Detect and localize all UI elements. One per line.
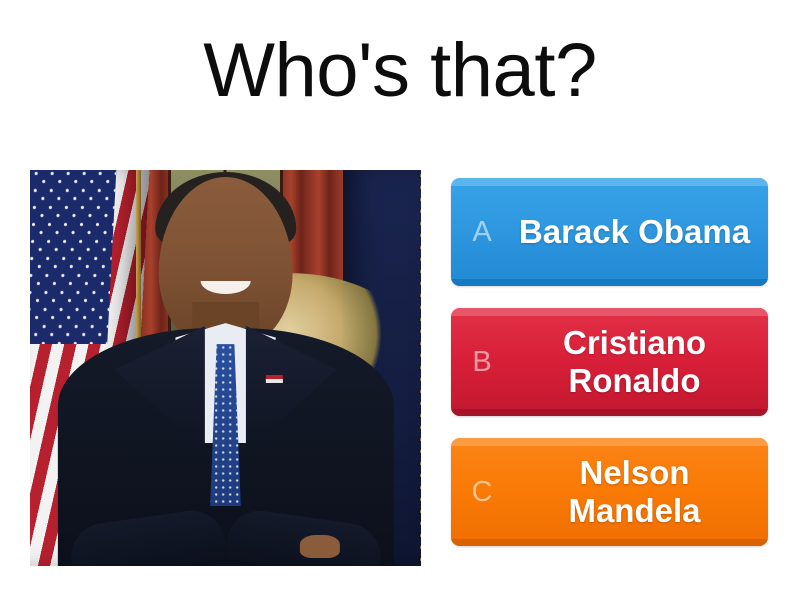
answer-a-bottom-edge <box>451 279 768 286</box>
hand <box>299 535 339 559</box>
answer-c-top-edge <box>451 438 768 446</box>
flag-lapel-pin <box>266 375 283 383</box>
portrait-figure <box>57 328 393 566</box>
answer-list: A Barack Obama B Cristiano Ronaldo C Nel… <box>451 178 768 546</box>
answer-c-bottom-edge <box>451 539 768 546</box>
portrait-illustration <box>30 170 421 566</box>
answer-b-top-edge <box>451 308 768 316</box>
answer-b-label: Cristiano Ronaldo <box>513 324 768 400</box>
answer-option-b[interactable]: B Cristiano Ronaldo <box>451 308 768 416</box>
answer-c-label: Nelson Mandela <box>513 454 768 530</box>
answer-c-letter: C <box>451 478 513 507</box>
answer-a-top-edge <box>451 178 768 186</box>
question-image <box>30 170 421 566</box>
answer-option-a[interactable]: A Barack Obama <box>451 178 768 286</box>
answer-a-letter: A <box>451 218 513 247</box>
answer-b-bottom-edge <box>451 409 768 416</box>
answer-option-c[interactable]: C Nelson Mandela <box>451 438 768 546</box>
page-title: Who's that? <box>0 26 800 116</box>
answer-a-label: Barack Obama <box>513 213 768 251</box>
us-flag-stars <box>30 170 117 344</box>
answer-b-letter: B <box>451 348 513 377</box>
